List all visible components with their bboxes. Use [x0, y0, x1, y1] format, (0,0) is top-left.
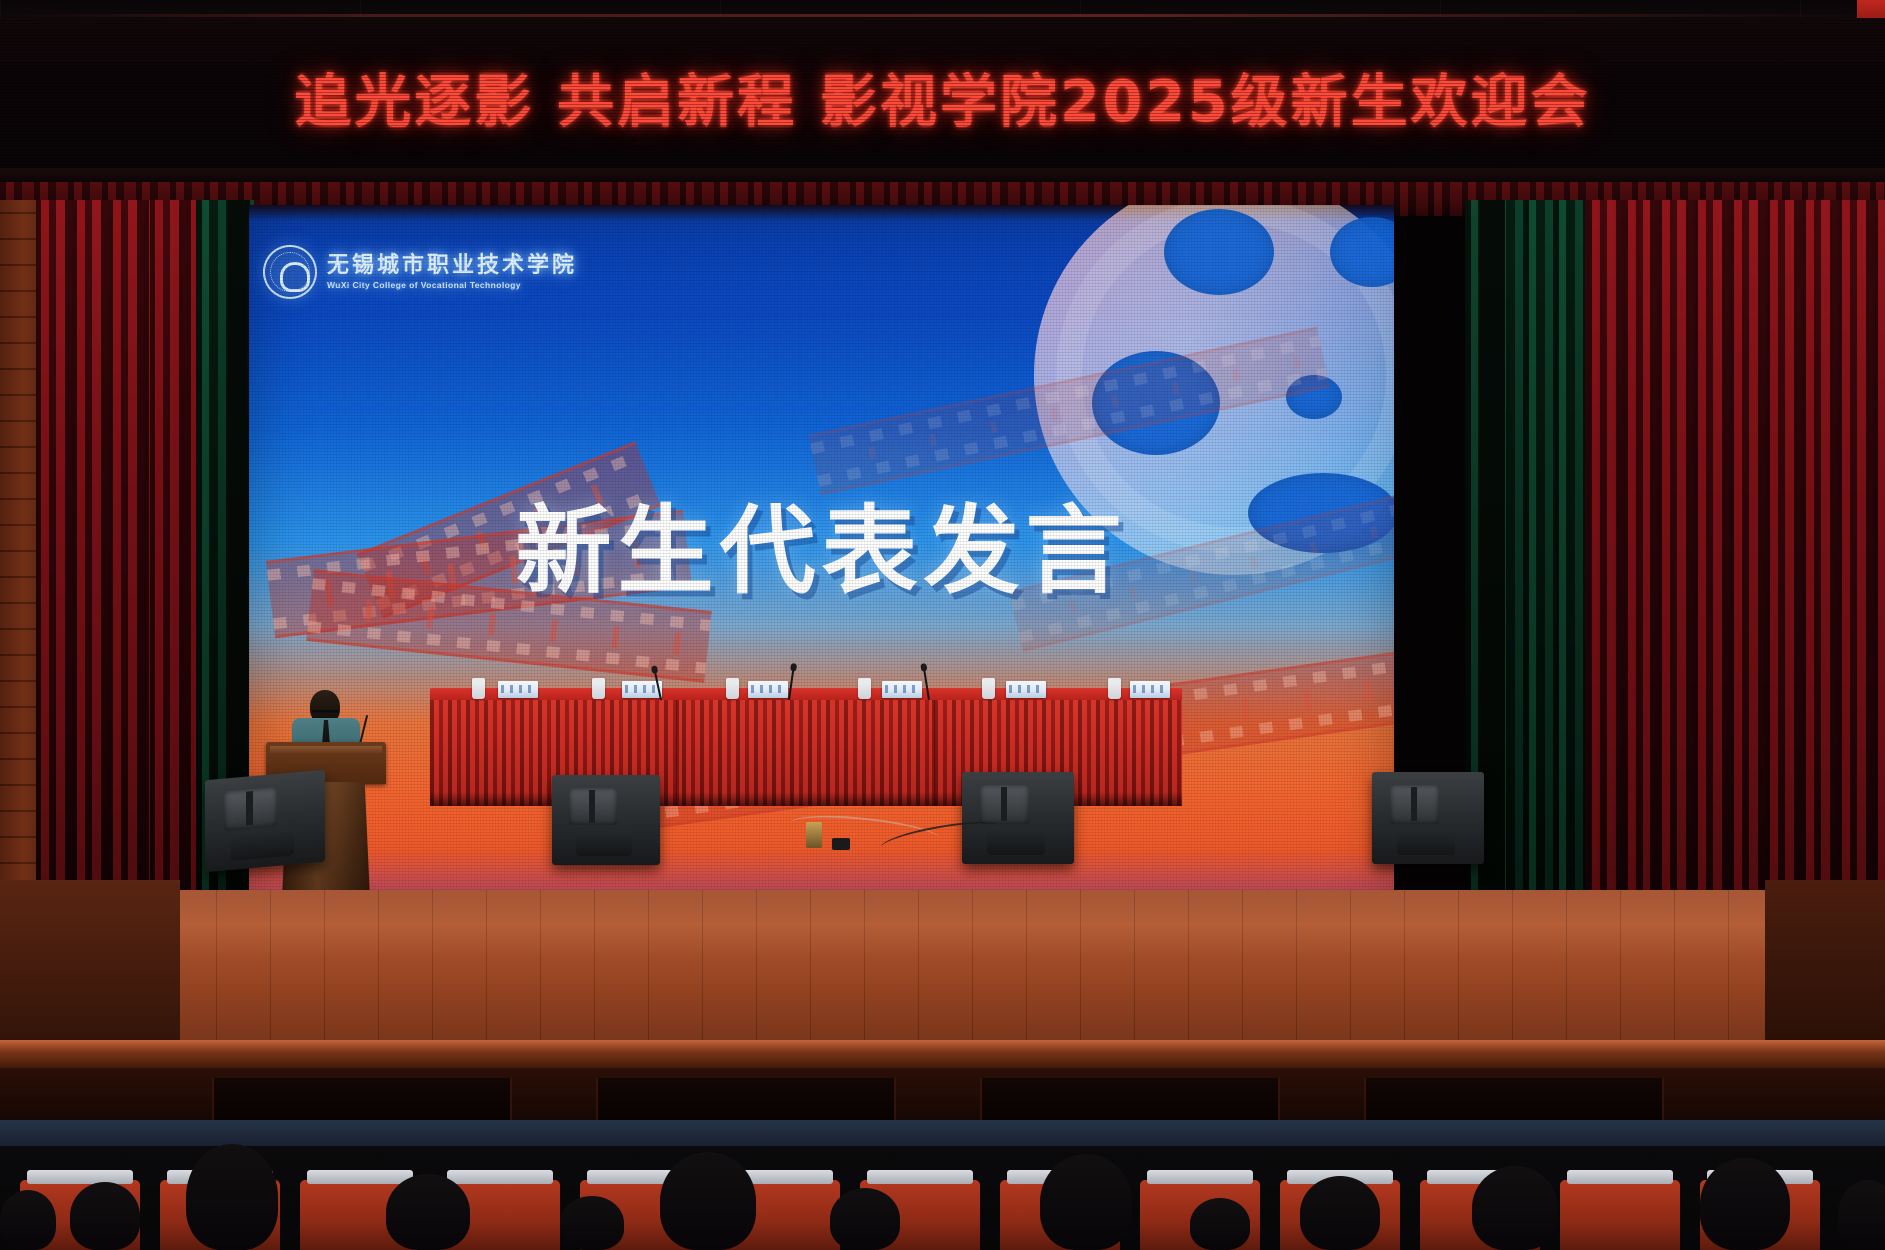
green-curtain-right: [1493, 200, 1585, 900]
water-cup: [982, 678, 995, 699]
auditorium-photo: 追光逐影 共启新程 影视学院2025级新生欢迎会 无锡城市职业技术学院: [0, 0, 1885, 1250]
stage-monitor-speaker: [962, 772, 1074, 864]
name-card: [498, 681, 538, 698]
school-name-cn: 无锡城市职业技术学院: [327, 254, 577, 277]
name-card: [748, 681, 788, 698]
stage-front-panel: [980, 1078, 1280, 1124]
film-reel-hole: [1164, 209, 1274, 295]
glasses-icon: [312, 710, 338, 717]
audience-head-silhouette: [70, 1182, 140, 1250]
floor-sheen: [0, 890, 1885, 960]
school-seal-icon: [263, 245, 317, 299]
audience-head-silhouette: [386, 1174, 470, 1250]
audience-head-silhouette: [560, 1196, 624, 1250]
speaker-grille: [980, 785, 1029, 824]
stage-front-panel: [1364, 1078, 1664, 1124]
stage-front-panel: [596, 1078, 896, 1124]
audience-head-silhouette: [1300, 1176, 1380, 1250]
name-card: [882, 681, 922, 698]
stage-lip: [0, 1040, 1885, 1070]
stage-front-panel: [212, 1078, 512, 1124]
stage-monitor-speaker: [205, 770, 325, 872]
school-logo: 无锡城市职业技术学院 WuXi City College of Vocation…: [263, 245, 577, 299]
di-box: [806, 822, 822, 848]
slide-title: 新生代表发言: [249, 473, 1394, 612]
audience-seat: [1560, 1180, 1680, 1250]
audience-area: [0, 1120, 1885, 1250]
school-name-en: WuXi City College of Vocational Technolo…: [327, 281, 577, 290]
audience-head-silhouette: [660, 1152, 756, 1250]
audience-head-silhouette: [0, 1190, 56, 1250]
audience-head-silhouette: [1838, 1180, 1885, 1250]
audience-head-silhouette: [1190, 1198, 1250, 1250]
water-cup: [726, 678, 739, 699]
water-cup: [1108, 678, 1121, 699]
stage-floor: [0, 890, 1885, 1050]
table-panel-seam: [932, 700, 935, 806]
ceiling-seam: [0, 14, 1885, 17]
led-banner: 追光逐影 共启新程 影视学院2025级新生欢迎会: [0, 18, 1885, 168]
table-panel-seam: [676, 700, 679, 806]
stage-monitor-speaker: [1372, 772, 1484, 864]
audience-back-rail: [0, 1120, 1885, 1146]
water-cup: [858, 678, 871, 699]
school-logo-text: 无锡城市职业技术学院 WuXi City College of Vocation…: [327, 254, 577, 289]
audience-head-silhouette: [1472, 1166, 1558, 1250]
water-cup: [472, 678, 485, 699]
speaker-grille: [224, 787, 277, 830]
di-box: [832, 838, 850, 850]
audience-head-silhouette: [1700, 1158, 1790, 1250]
audience-head-silhouette: [1040, 1154, 1132, 1250]
name-card: [1130, 681, 1170, 698]
name-card: [1006, 681, 1046, 698]
speaker-grille: [1390, 785, 1439, 824]
stage-monitor-speaker: [552, 775, 660, 865]
speaker-grille: [569, 788, 617, 826]
audience-head-silhouette: [830, 1188, 900, 1250]
speaker-woofer: [1397, 827, 1455, 855]
speaker-woofer: [231, 828, 293, 861]
led-banner-text: 追光逐影 共启新程 影视学院2025级新生欢迎会: [294, 56, 1590, 138]
water-cup: [592, 678, 605, 699]
audience-head-silhouette: [186, 1144, 278, 1250]
speaker-woofer: [576, 829, 632, 856]
